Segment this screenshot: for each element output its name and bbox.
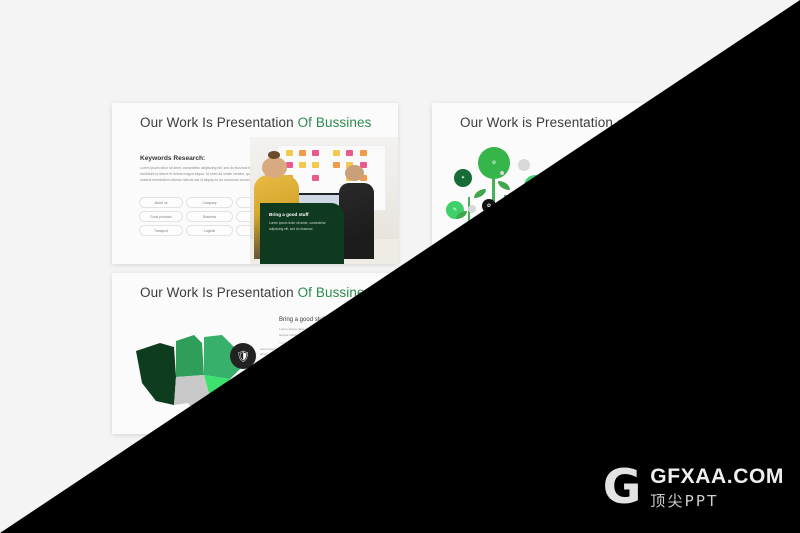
shield-icon: 🛡 [236,350,250,363]
feature-title: Your Title Here [664,175,711,179]
indicator-row: Indicator 3 [279,377,385,387]
slide-title: Our Work Is Presentation Of Bussines [140,285,371,300]
diagonal-overlay [0,0,800,533]
slide-title-accent: Of Bussines [298,285,372,300]
indicator-label: Indicator 1 [279,341,385,345]
person-figure [658,347,689,420]
slide-title-accent: Of Bussines [618,285,692,300]
indicator-track [279,347,385,351]
slide-thumbnail-3[interactable]: Our Work Is Presentation Of Bussines 🛡 L… [112,273,398,434]
watermark-subtitle: 顶尖PPT [650,490,784,511]
feature-list: ✓ Your Title Here Vestibulum neque velit… [587,147,711,220]
feature-title: Your Title Here [664,147,711,151]
slide-title-main: Our Work Is Presentation [140,285,298,300]
feature-item[interactable]: ✓ Your Title Here Vestibulum neque velit… [587,147,645,163]
feature-item[interactable]: ✓ Your Title Here Vestibulum neque velit… [587,175,645,191]
feature-body: Vestibulum neque velit, Class aptent tac… [598,153,645,164]
icon-node-cloud: ☁ [538,223,554,239]
tag-cell[interactable]: About us [139,197,183,208]
slide-title-main: Our Work is Presentation [460,115,617,130]
check-icon: ✓ [587,204,594,211]
section-body: Lorem ipsum dolor sit amet, consectetur … [460,336,580,354]
tag-cell[interactable]: About us [459,367,503,378]
slide-thumbnail-1[interactable]: Our Work Is Presentation Of Bussines Key… [112,103,398,264]
icon-node-bulb: 💡 [546,193,562,209]
bring-heading: Bring a good stuff [279,317,326,323]
highlight-card: Bring a good stuff Lorem ipsum dolor sit… [557,369,637,425]
slide-title-accent: Of Bussines [298,115,372,130]
preview-stage: Our Work Is Presentation Of Bussines Key… [0,0,800,533]
feature-item[interactable]: ✓ Your Title Here Vestibulum neque velit… [653,175,711,191]
slide-title-accent: of Bussines [617,115,688,130]
plant-circuit-illustration: ⚙ ✦ ♻ ✎ ✿ 💧 💡 ⚜ ☁ ☼ [446,141,581,261]
card-title: Bring a good stuff [269,212,335,217]
tag-cell[interactable]: Business [506,381,553,392]
check-icon: ✓ [587,147,594,154]
tag-cell[interactable]: Transport [459,395,503,406]
australia-map-svg [130,313,276,428]
indicator-list: Indicator 1 Indicator 2 Indicator 3 Indi… [279,341,385,414]
slide-thumbnail-2[interactable]: Our Work is Presentation of Bussines ⚙ ✦… [432,103,718,264]
highlight-card: Bring a good stuff Lorem ipsum dolor sit… [260,203,344,264]
feature-item[interactable]: ✓ Your Title Here Vestibulum neque velit… [587,204,645,220]
tag-cell[interactable]: Good products [459,381,503,392]
slide-title: Our Work is Presentation of Bussines [460,115,688,130]
watermark: G GFXAA.COM 顶尖PPT [603,465,784,511]
check-icon: ✓ [653,175,660,182]
check-icon: ✓ [587,175,594,182]
australia-map: 🛡 Lorem ipsum dolor sit amet. [130,313,276,428]
gfxaa-logo-icon: G [603,469,642,508]
icon-node-bottle: ⚜ [464,221,480,237]
feature-body: Vestibulum neque velit, Class aptent tac… [598,181,645,192]
feature-title: Your Title Here [598,175,645,179]
tag-cell[interactable]: Company [506,367,553,378]
section-heading: Keywords Research: [140,155,205,162]
map-badge[interactable]: 🛡 [230,343,256,369]
card-body: Lorem ipsum dolor sit amet, consectetur … [566,387,628,399]
slide-title-main: Our Work Is Presentation [460,285,618,300]
section-heading: Keywords Research: [460,325,525,332]
indicator-row: Indicator 4 [279,396,385,406]
indicator-fill [279,347,345,351]
indicator-row: Indicator 2 [279,359,385,369]
tag-cell[interactable]: Company [186,197,233,208]
slide-title: Our Work Is Presentation Of Bussines [140,115,371,130]
indicator-fill [279,365,338,369]
check-icon: ✓ [653,147,660,154]
feature-body: Vestibulum neque velit, Class aptent tac… [664,181,711,192]
tag-cell[interactable]: Logistic [186,225,233,236]
slide-thumbnail-4[interactable]: Our Work Is Presentation Of Bussines Key… [432,273,718,434]
slide-title: Our Work Is Presentation Of Bussines [460,285,691,300]
indicator-row: Indicator 1 [279,341,385,351]
watermark-domain: GFXAA.COM [650,465,784,489]
tag-cell[interactable]: Transport [139,225,183,236]
icon-node-leaf: ✿ [482,199,496,213]
indicator-track [279,383,385,387]
feature-title: Your Title Here [598,147,645,151]
feature-item[interactable]: ✓ Your Title Here Vestibulum neque velit… [653,147,711,163]
person-figure [339,183,375,259]
tag-cell[interactable]: Good products [139,211,183,222]
icon-node-gear: ⚙ [478,147,510,179]
card-body: Lorem ipsum dolor sit amet, consectetur … [269,221,335,233]
indicator-fill [279,402,348,406]
card-title: Bring a good stuff [566,378,628,383]
tag-cell[interactable]: Business [186,211,233,222]
indicator-fill [279,383,357,387]
indicator-track [279,402,385,406]
bring-body: Lorem ipsum dolor sit amet, consectetur … [279,327,385,338]
icon-node-recycle: ♻ [524,175,546,197]
indicator-label: Indicator 4 [279,396,385,400]
icon-node-tool: ✦ [454,169,472,187]
tag-cell[interactable]: Logistic [506,395,553,406]
section-body: Lorem ipsum dolor sit amet, consectetur … [140,166,260,184]
indicator-label: Indicator 2 [279,359,385,363]
indicator-track [279,365,385,369]
feature-title: Your Title Here [598,204,645,208]
feature-body: Vestibulum neque velit, Class aptent tac… [598,209,645,220]
indicator-label: Indicator 3 [279,377,385,381]
icon-node-drop: 💧 [510,201,526,217]
slide-title-main: Our Work Is Presentation [140,115,298,130]
feature-body: Vestibulum neque velit, Class aptent tac… [664,153,711,164]
